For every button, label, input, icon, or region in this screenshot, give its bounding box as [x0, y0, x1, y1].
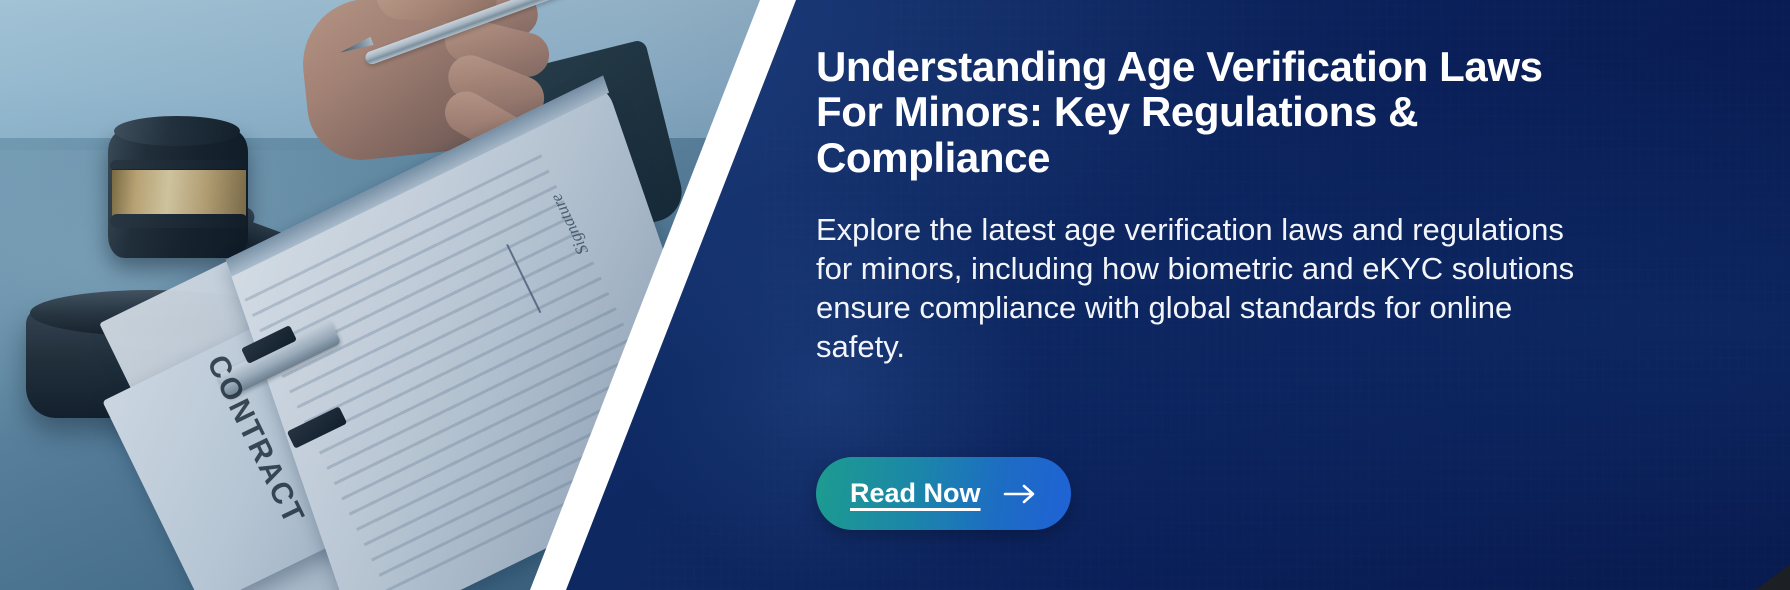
arrow-right-icon [1003, 481, 1037, 507]
page-title: Understanding Age Verification Laws For … [816, 44, 1616, 180]
read-now-label: Read Now [850, 478, 981, 509]
hero-description: Explore the latest age verification laws… [816, 180, 1606, 366]
hero-text-block: Understanding Age Verification Laws For … [816, 44, 1636, 366]
read-now-button[interactable]: Read Now [816, 457, 1071, 530]
corner-accent [1756, 564, 1790, 590]
blog-hero-banner: Signature CONTRACT Understanding Age Ver… [0, 0, 1790, 590]
